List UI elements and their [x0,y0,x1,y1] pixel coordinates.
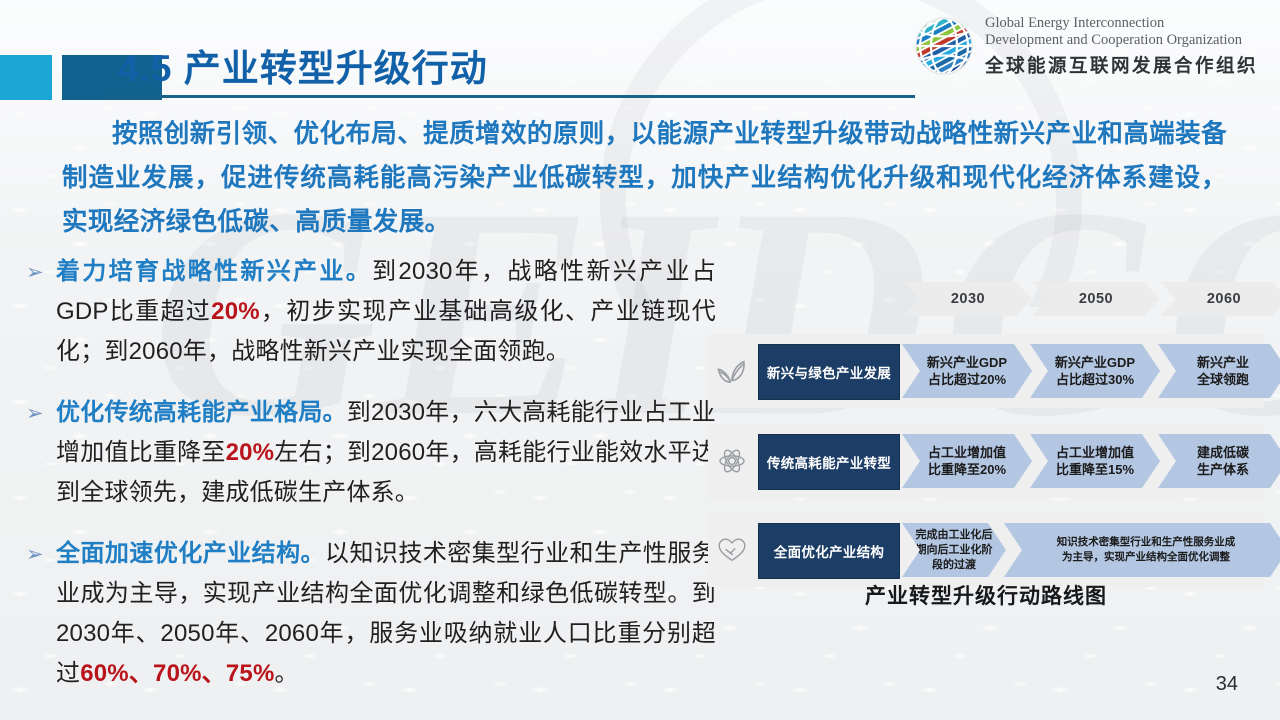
roadmap-step: 占工业增加值 比重降至15% [1030,434,1160,488]
bullet-list: ➢ 着力培育战略性新兴产业。到2030年，战略性新兴产业占GDP比重超过20%，… [26,252,716,715]
atom-icon [712,440,752,482]
globe-logo-icon [912,14,976,78]
roadmap-step: 新兴产业GDP 占比超过20% [902,344,1032,398]
roadmap-row: 传统高耗能产业转型 占工业增加值 比重降至20% 占工业增加值 比重降至15% … [708,424,1264,498]
step-line: 占比超过30% [1056,371,1134,388]
header-accent-cyan [0,55,52,100]
step-line: 为主导，实现产业结构全面优化调整 [1062,550,1230,565]
bullet-highlight: 20% [211,298,260,325]
diagram-caption: 产业转型升级行动路线图 [708,580,1264,610]
slide-canvas: GEIDCO 4.5 产业转型升级行动 [0,0,1280,720]
roadmap-diagram: 2030 2050 2060 新兴与绿色产业发展 新兴产业GDP 占比超过20%… [708,276,1264,566]
roadmap-row-label: 新兴与绿色产业发展 [758,344,900,400]
roadmap-step: 新兴产业GDP 占比超过30% [1030,344,1160,398]
handshake-heart-icon [712,529,752,571]
bullet-highlight: 60%、70%、75% [80,660,274,687]
title-underline [105,95,915,98]
roadmap-row-label: 全面优化产业结构 [758,523,900,579]
step-line: 占比超过20% [928,371,1006,388]
bullet-item: ➢ 优化传统高耗能产业格局。到2030年，六大高耗能行业占工业增加值比重降至20… [26,393,716,513]
page-title: 4.5 产业转型升级行动 [118,38,488,92]
step-line: 建成低碳 [1197,444,1249,461]
roadmap-step: 占工业增加值 比重降至20% [902,434,1032,488]
step-line: 占工业增加值 [1056,444,1134,461]
year-header-2060: 2060 [1160,282,1280,316]
roadmap-row-label: 传统高耗能产业转型 [758,434,900,490]
roadmap-step: 新兴产业 全球领跑 [1158,344,1280,398]
step-line: 新兴产业 [1197,354,1249,371]
step-line: 段的过渡 [932,558,976,573]
lead-paragraph: 按照创新引领、优化布局、提质增效的原则，以能源产业转型升级带动战略性新兴产业和高… [62,112,1227,244]
bullet-lead: 着力培育战略性新兴产业。 [56,258,372,285]
step-line: 新兴产业GDP [927,354,1007,371]
step-line: 比重降至15% [1056,461,1134,478]
logo-text-en-line1: Global Energy Interconnection [985,15,1258,32]
logo-text-cn: 全球能源互联网发展合作组织 [985,52,1258,78]
step-line: 知识技术密集型行业和生产性服务业成 [1057,535,1236,550]
page-number: 34 [1216,673,1238,696]
bullet-lead: 全面加速优化产业结构。 [56,540,325,567]
bullet-arrow-icon: ➢ [26,393,56,434]
roadmap-step: 知识技术密集型行业和生产性服务业成 为主导，实现产业结构全面优化调整 [1004,523,1280,577]
step-line: 生产体系 [1197,461,1249,478]
bullet-arrow-icon: ➢ [26,252,56,293]
leaf-icon [712,350,752,392]
bullet-lead: 优化传统高耗能产业格局。 [56,399,347,426]
bullet-text-part2: 。 [275,660,299,687]
step-line: 全球领跑 [1197,371,1249,388]
roadmap-row: 新兴与绿色产业发展 新兴产业GDP 占比超过20% 新兴产业GDP 占比超过30… [708,334,1264,408]
step-line: 期向后工业化阶 [916,543,993,558]
roadmap-step: 完成由工业化后 期向后工业化阶 段的过渡 [902,523,1006,577]
bullet-text: 优化传统高耗能产业格局。到2030年，六大高耗能行业占工业增加值比重降至20%左… [56,393,716,513]
step-line: 比重降至20% [928,461,1006,478]
bullet-item: ➢ 全面加速优化产业结构。以知识技术密集型行业和生产性服务业成为主导，实现产业结… [26,534,716,694]
roadmap-row: 全面优化产业结构 完成由工业化后 期向后工业化阶 段的过渡 知识技术密集型行业和… [708,513,1264,587]
bullet-text: 着力培育战略性新兴产业。到2030年，战略性新兴产业占GDP比重超过20%，初步… [56,252,716,372]
bullet-text: 全面加速优化产业结构。以知识技术密集型行业和生产性服务业成为主导，实现产业结构全… [56,534,716,694]
year-header-2030: 2030 [904,282,1032,316]
organization-logo: Global Energy Interconnection Developmen… [912,14,1258,78]
bullet-arrow-icon: ➢ [26,534,56,575]
year-header-2050: 2050 [1032,282,1160,316]
step-line: 完成由工业化后 [916,528,993,543]
roadmap-step: 建成低碳 生产体系 [1158,434,1280,488]
bullet-highlight: 20% [226,439,275,466]
logo-text-en-line2: Development and Cooperation Organization [985,32,1258,49]
bullet-item: ➢ 着力培育战略性新兴产业。到2030年，战略性新兴产业占GDP比重超过20%，… [26,252,716,372]
step-line: 新兴产业GDP [1055,354,1135,371]
step-line: 占工业增加值 [928,444,1006,461]
